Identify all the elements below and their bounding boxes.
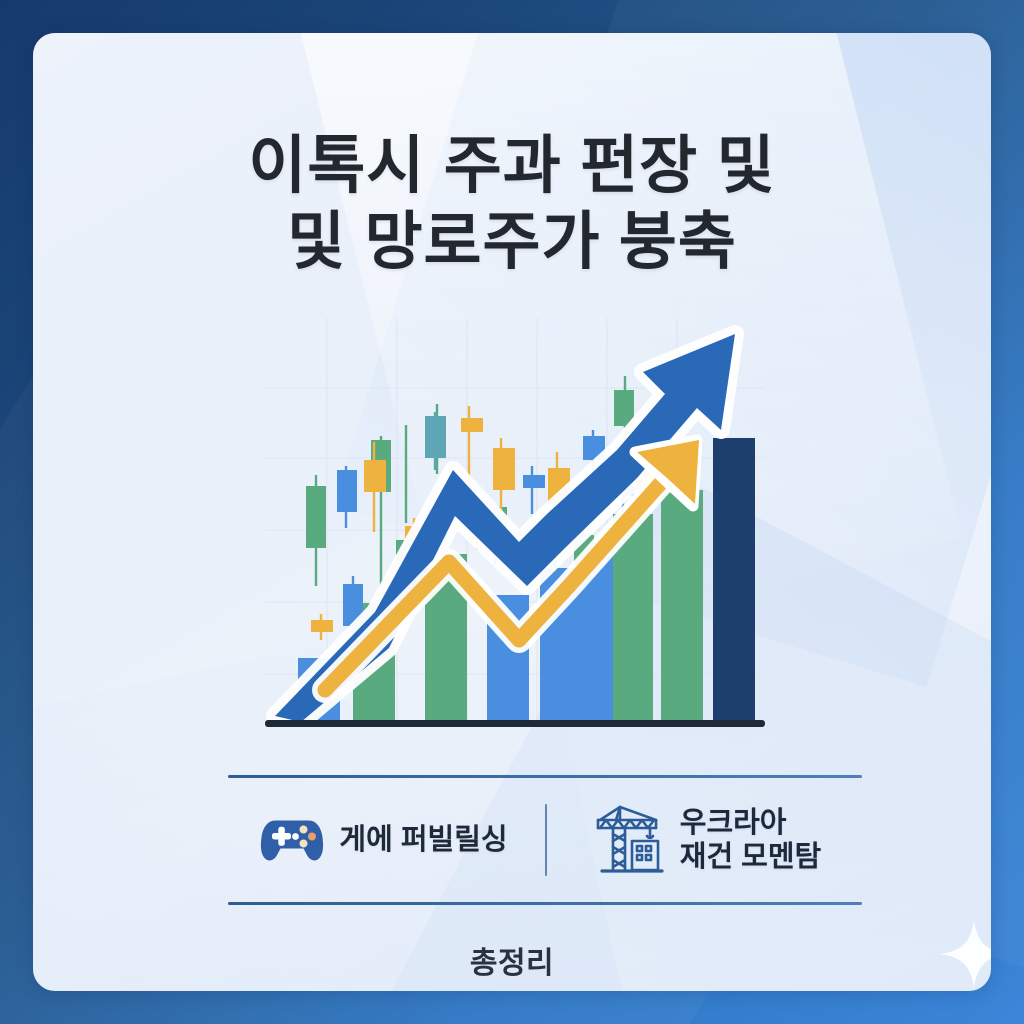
feature-strip: 게에 퍼빌릴싱 (228, 775, 862, 905)
bar-10 (713, 438, 755, 722)
feature-item-gaming[interactable]: 게에 퍼빌릴싱 (228, 816, 545, 864)
feature-divider (545, 804, 547, 876)
title-line-1: 이톡시 주과 펀장 및 (33, 128, 991, 204)
footer-text: 총정리 (470, 947, 554, 980)
page-title: 이톡시 주과 펀장 및 및 망로주가 붕축 (33, 128, 991, 280)
gamepad-icon (259, 816, 325, 864)
footer-note: 총정리 (33, 938, 991, 982)
content-card: 이톡시 주과 펀장 및 및 망로주가 붕축 (33, 33, 991, 991)
bar-9 (661, 490, 703, 722)
feature-label-reconstruction: 우크라아 재건 모멘탐 (680, 806, 821, 874)
title-line-2: 및 망로주가 붕축 (33, 204, 991, 280)
feature-strip-bottom-rule (228, 902, 862, 905)
feature-label-gaming: 게에 퍼빌릴싱 (339, 823, 507, 857)
chart-baseline (265, 720, 765, 727)
poster-root: 이톡시 주과 펀장 및 및 망로주가 붕축 (0, 0, 1024, 1024)
stock-growth-chart (265, 318, 765, 738)
feature-item-reconstruction[interactable]: 우크라아 재건 모멘탐 (547, 803, 862, 877)
construction-crane-icon (592, 803, 666, 877)
